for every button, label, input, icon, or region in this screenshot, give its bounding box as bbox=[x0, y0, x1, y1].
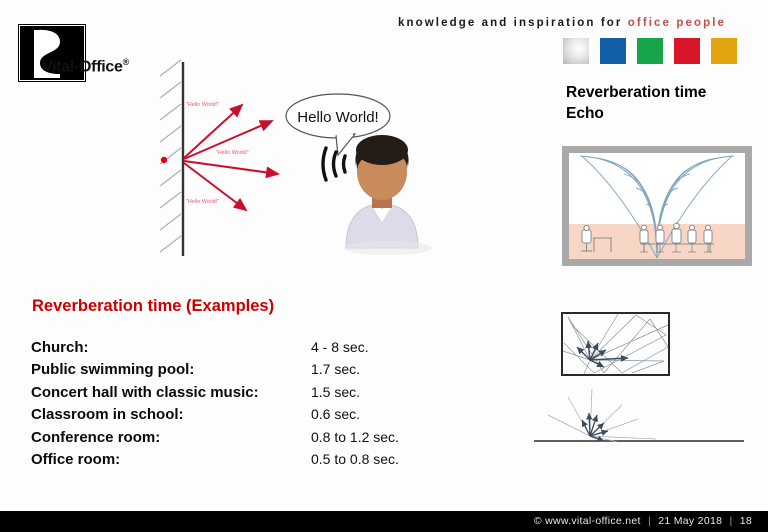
swatch-blue bbox=[600, 38, 626, 64]
logo-wordmark: Vital-Office® bbox=[42, 57, 129, 76]
footer-separator-1: | bbox=[644, 515, 655, 527]
reflection-rays bbox=[184, 105, 278, 210]
ray-label-2: "Hello World!" bbox=[216, 150, 249, 156]
reverb-value: 1.5 sec. bbox=[311, 384, 360, 400]
ray-tracing-diagrams bbox=[532, 295, 757, 450]
reverb-label: Church: bbox=[31, 339, 311, 356]
table-row: Conference room: 0.8 to 1.2 sec. bbox=[31, 429, 451, 451]
wall-hatching-icon bbox=[160, 60, 181, 252]
sound-source-dot bbox=[161, 157, 167, 163]
slide-canvas: Vital-Office® knowledge and inspiration … bbox=[0, 0, 768, 532]
table-row: Concert hall with classic music: 1.5 sec… bbox=[31, 384, 451, 406]
footer-site-link[interactable]: www.vital-office.net bbox=[545, 515, 641, 527]
room-acoustics-diagram bbox=[562, 146, 752, 266]
footer-copyright-icon: © bbox=[534, 515, 542, 527]
footer-date: 21 May 2018 bbox=[658, 515, 722, 527]
footer-bar: © www.vital-office.net | 21 May 2018 | 1… bbox=[0, 511, 768, 532]
reverb-label: Office room: bbox=[31, 451, 311, 468]
reverb-section-heading: Reverberation time (Examples) bbox=[32, 297, 274, 316]
section-title: Reverberation time Echo bbox=[566, 83, 706, 125]
table-row: Public swimming pool: 1.7 sec. bbox=[31, 361, 451, 383]
ray-label-1: "Hello World!" bbox=[186, 102, 219, 108]
reverb-label: Concert hall with classic music: bbox=[31, 384, 311, 401]
avatar bbox=[338, 135, 432, 255]
table-row: Classroom in school: 0.6 sec. bbox=[31, 406, 451, 428]
reverb-value: 0.6 sec. bbox=[311, 406, 360, 422]
echo-illustration: "Hello World!" "Hello World!" "Hello Wor… bbox=[150, 58, 440, 263]
table-row: Church: 4 - 8 sec. bbox=[31, 339, 451, 361]
header-tagline: knowledge and inspiration for office peo… bbox=[398, 17, 726, 29]
swatch-green bbox=[637, 38, 663, 64]
reverberation-examples-table: Church: 4 - 8 sec. Public swimming pool:… bbox=[31, 339, 451, 473]
footer-text: © www.vital-office.net | 21 May 2018 | 1… bbox=[534, 515, 752, 527]
enclosed-room-ray-diagram bbox=[562, 313, 669, 375]
reverb-label: Classroom in school: bbox=[31, 406, 311, 423]
footer-page-number: 18 bbox=[740, 515, 752, 527]
ray-label-3: "Hello World!" bbox=[186, 199, 219, 205]
brand-color-swatches bbox=[563, 38, 737, 64]
reverb-label: Public swimming pool: bbox=[31, 361, 311, 378]
table-row: Office room: 0.5 to 0.8 sec. bbox=[31, 451, 451, 473]
tagline-main: knowledge and inspiration for bbox=[398, 17, 622, 29]
reverb-value: 1.7 sec. bbox=[311, 361, 360, 377]
reverb-value: 0.8 to 1.2 sec. bbox=[311, 429, 399, 445]
vital-office-logo: Vital-Office® bbox=[18, 24, 118, 84]
tagline-accent: office people bbox=[628, 17, 726, 29]
speech-bubble-text: Hello World! bbox=[297, 109, 378, 126]
logo-trademark: ® bbox=[123, 57, 129, 67]
section-title-line2: Echo bbox=[566, 104, 706, 125]
section-title-line1: Reverberation time bbox=[566, 83, 706, 104]
swatch-red bbox=[674, 38, 700, 64]
reverb-value: 4 - 8 sec. bbox=[311, 339, 369, 355]
reverb-label: Conference room: bbox=[31, 429, 311, 446]
logo-wordmark-text: Vital-Office bbox=[42, 58, 123, 75]
swatch-silver bbox=[563, 38, 589, 64]
free-field-ray-diagram bbox=[534, 389, 744, 442]
footer-separator-2: | bbox=[725, 515, 736, 527]
reverb-value: 0.5 to 0.8 sec. bbox=[311, 451, 399, 467]
swatch-gold bbox=[711, 38, 737, 64]
sound-wave-icon bbox=[323, 148, 345, 180]
